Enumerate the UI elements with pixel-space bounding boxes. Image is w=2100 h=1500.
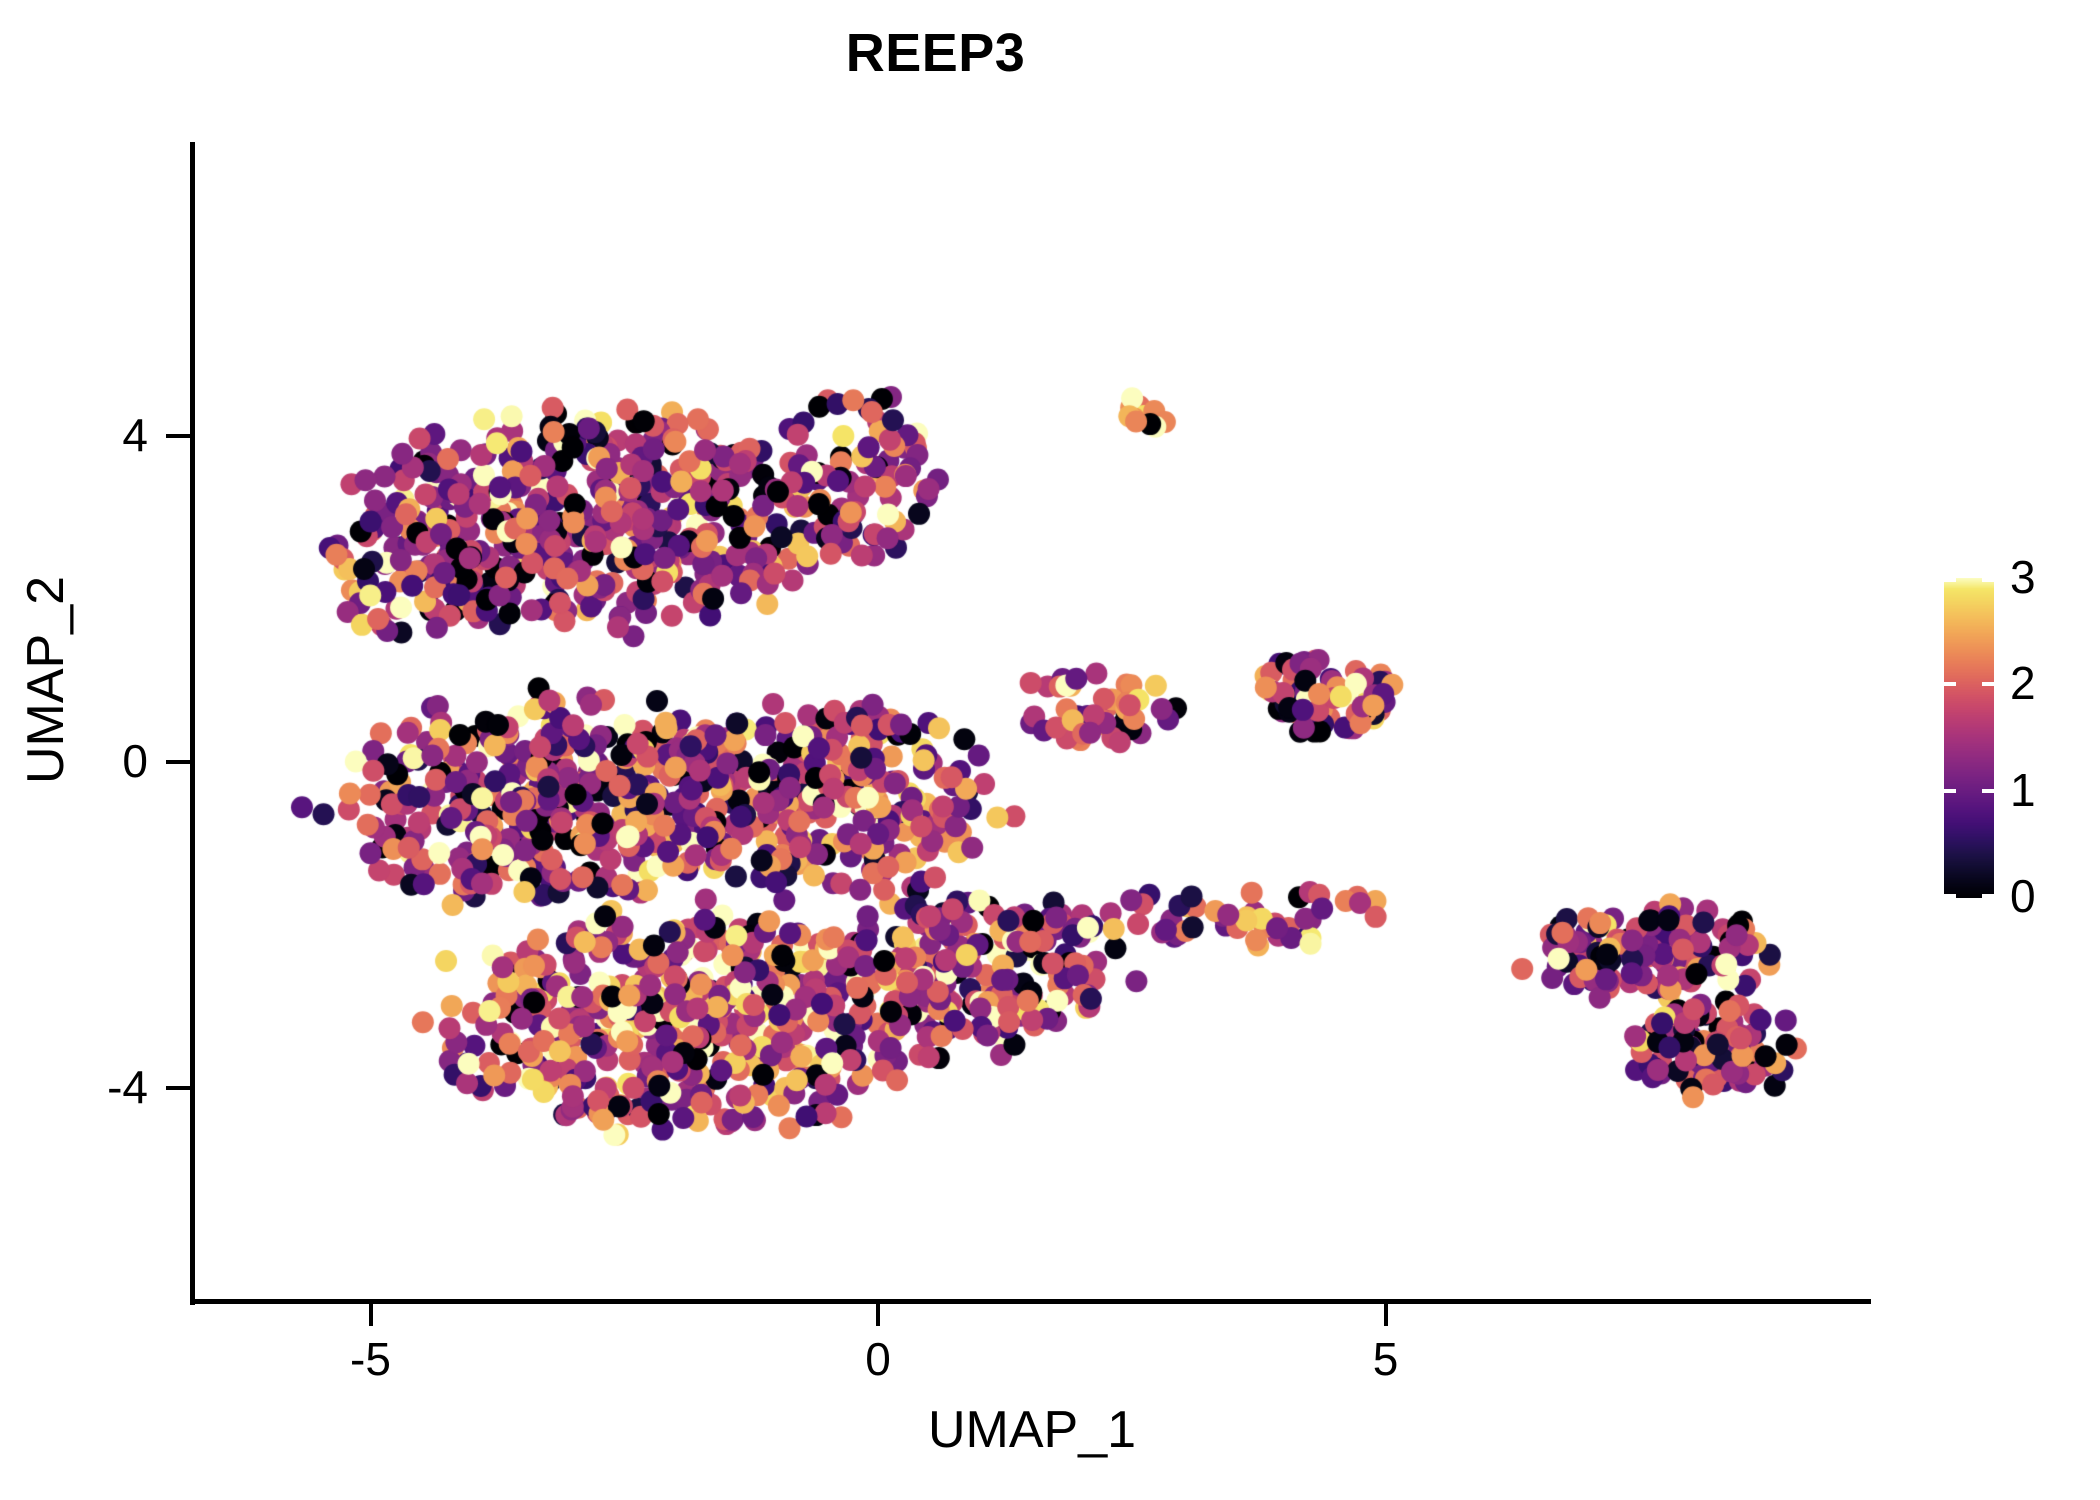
x-tick-label-5: 5 <box>1316 1336 1456 1382</box>
x-axis-line <box>190 1299 1871 1304</box>
y-tick-0 <box>166 760 190 764</box>
colorbar-tick-0-right <box>1982 894 1994 898</box>
colorbar-label-1: 1 <box>2010 767 2070 813</box>
y-tick-label-4: 4 <box>28 412 148 458</box>
colorbar-label-3: 3 <box>2010 554 2070 600</box>
colorbar-tick-3-left <box>1944 578 1956 582</box>
page-title: REEP3 <box>0 26 1871 80</box>
colorbar-tick-1-left <box>1944 789 1956 793</box>
colorbar-tick-0-left <box>1944 894 1956 898</box>
colorbar-tick-3-right <box>1982 578 1994 582</box>
color-legend: 0123 <box>1944 578 2074 898</box>
x-tick-label-0: 0 <box>808 1336 948 1382</box>
colorbar-label-2: 2 <box>2010 660 2070 706</box>
colorbar-tick-1-right <box>1982 789 1994 793</box>
colorbar-label-0: 0 <box>2010 873 2070 919</box>
x-tick-label--5: -5 <box>301 1336 441 1382</box>
colorbar-tick-2-left <box>1944 682 1956 686</box>
y-tick-label-0: 0 <box>28 738 148 784</box>
x-tick--5 <box>369 1303 373 1326</box>
colorbar <box>1944 578 1994 898</box>
y-tick--4 <box>166 1086 190 1090</box>
y-tick-4 <box>166 434 190 438</box>
x-tick-0 <box>876 1303 880 1326</box>
y-tick-label--4: -4 <box>28 1064 148 1110</box>
scatter-plot-canvas <box>193 142 1871 1302</box>
colorbar-tick-2-right <box>1982 682 1994 686</box>
plot-panel <box>193 142 1871 1302</box>
colorbar-gradient <box>1944 578 1994 898</box>
feature-plot-figure: REEP3 -404 -505 UMAP_1 UMAP_2 0123 <box>0 0 2100 1500</box>
y-axis-line <box>190 142 195 1305</box>
x-tick-5 <box>1384 1303 1388 1326</box>
x-axis-label: UMAP_1 <box>193 1404 1871 1456</box>
